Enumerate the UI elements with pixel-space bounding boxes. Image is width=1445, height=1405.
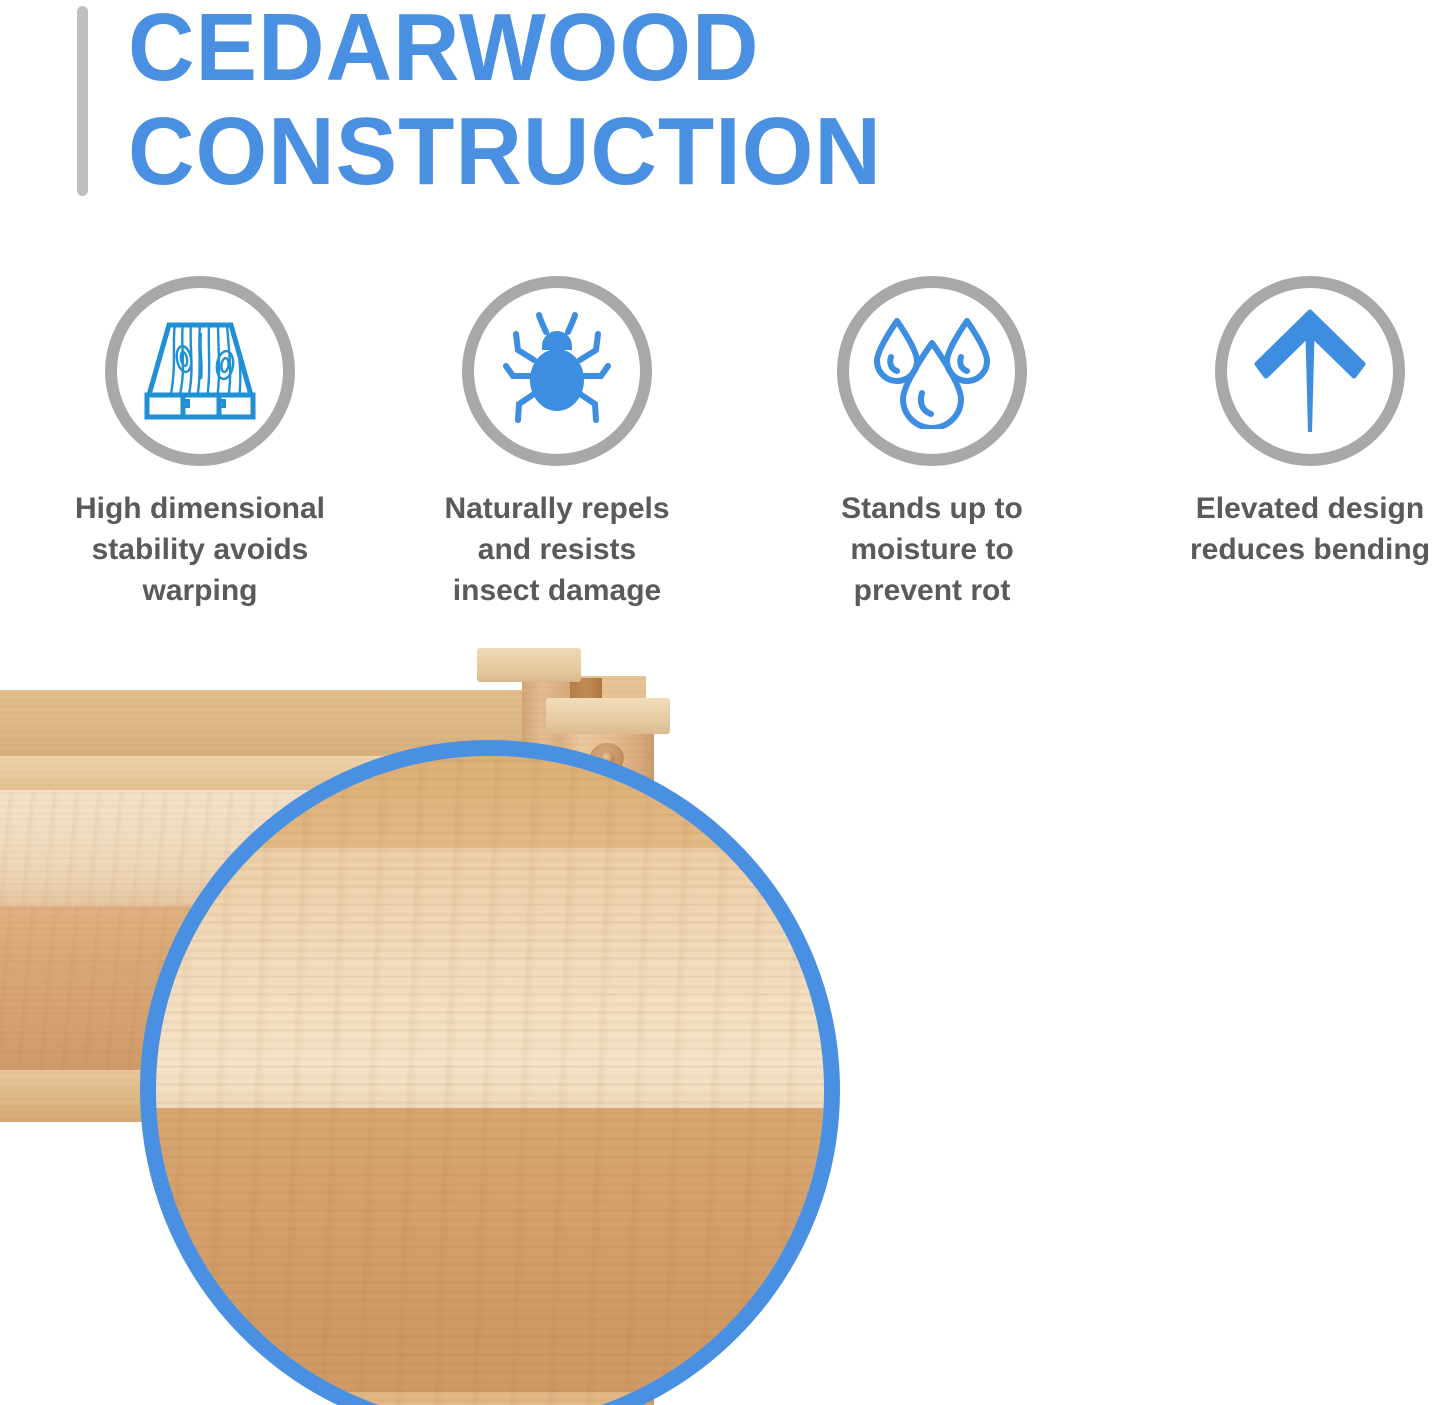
planter-post-cap-front xyxy=(546,698,670,734)
wood-plank-icon xyxy=(139,319,261,423)
bug-icon xyxy=(498,310,616,432)
feature-icon-ring-1 xyxy=(105,276,295,466)
feature-caption-2: Naturally repels and resists insect dama… xyxy=(397,488,717,611)
feature-item-insect-resistance: Naturally repels and resists insect dama… xyxy=(397,268,717,611)
up-arrow-icon xyxy=(1251,306,1369,436)
title-line-2: CONSTRUCTION xyxy=(128,100,1242,204)
feature-item-dimensional-stability: High dimensional stability avoids warpin… xyxy=(40,268,360,611)
magnifier-content xyxy=(156,756,824,1405)
feature-item-moisture-resistance: Stands up to moisture to prevent rot xyxy=(772,268,1092,611)
feature-caption-4: Elevated design reduces bending xyxy=(1150,488,1445,570)
feature-list: High dimensional stability avoids warpin… xyxy=(0,268,1445,608)
product-photo xyxy=(0,620,1445,1405)
feature-icon-ring-3 xyxy=(837,276,1027,466)
product-infographic: CEDARWOOD CONSTRUCTION xyxy=(0,0,1445,1405)
feature-caption-3: Stands up to moisture to prevent rot xyxy=(772,488,1092,611)
planter-post-cap-back xyxy=(477,648,581,682)
feature-item-elevated-design: Elevated design reduces bending xyxy=(1150,268,1445,570)
feature-icon-ring-2 xyxy=(462,276,652,466)
wood-grain-magnifier xyxy=(140,740,840,1405)
page-title: CEDARWOOD CONSTRUCTION xyxy=(128,0,1288,204)
feature-caption-1: High dimensional stability avoids warpin… xyxy=(40,488,360,611)
title-line-1: CEDARWOOD xyxy=(128,0,1242,100)
title-accent-rule xyxy=(77,6,88,196)
water-droplets-icon xyxy=(869,313,995,429)
feature-icon-ring-4 xyxy=(1215,276,1405,466)
header: CEDARWOOD CONSTRUCTION xyxy=(0,0,1445,230)
